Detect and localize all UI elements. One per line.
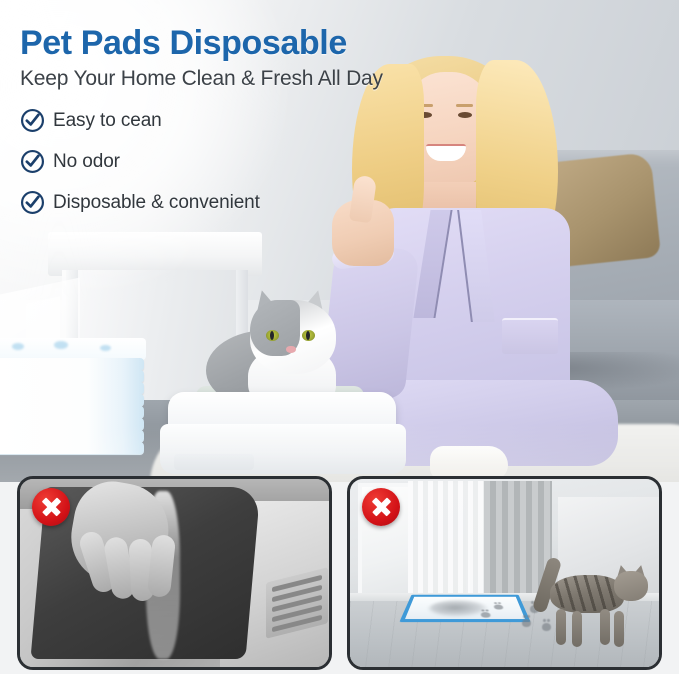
- pajama-pocket: [502, 318, 558, 354]
- cat-leg: [572, 611, 582, 647]
- list-item: Disposable & convenient: [20, 190, 440, 215]
- list-item-label: Disposable & convenient: [53, 192, 260, 214]
- list-item: No odor: [20, 149, 440, 174]
- panel-soiled-pad-on-floor: [347, 476, 662, 670]
- eye-right: [458, 112, 472, 118]
- cat-nose: [286, 346, 296, 353]
- benefit-list: Easy to cean No odor D: [20, 108, 440, 215]
- cat-leg: [600, 609, 610, 645]
- soiled-pee-pad: [399, 595, 530, 622]
- cat-pupil-left: [270, 331, 274, 340]
- paw-print: [522, 619, 531, 627]
- list-item: Easy to cean: [20, 108, 440, 133]
- cat-pupil-right: [306, 331, 310, 340]
- cat-leg: [556, 609, 566, 645]
- eyebrow-right: [456, 104, 473, 107]
- cat-head: [614, 571, 648, 601]
- pad-print-dot: [54, 341, 68, 349]
- pad-print-dot: [100, 345, 111, 351]
- red-x-badge: [362, 488, 400, 526]
- comparison-panels: [0, 474, 679, 674]
- page-title: Pet Pads Disposable: [20, 24, 440, 62]
- stack-of-pet-pads: [0, 352, 150, 458]
- urine-stain: [428, 600, 488, 616]
- headline-block: Pet Pads Disposable Keep Your Home Clean…: [20, 24, 440, 231]
- list-item-label: No odor: [53, 151, 120, 173]
- check-circle-icon: [20, 149, 45, 174]
- pad-print-dot: [12, 343, 24, 350]
- page-subtitle: Keep Your Home Clean & Fresh All Day: [20, 67, 440, 91]
- pad-stack-top-sheet: [0, 338, 146, 360]
- litter-box-lip: [174, 454, 254, 470]
- check-circle-icon: [20, 108, 45, 133]
- cat-stripes: [552, 575, 622, 611]
- check-circle-icon: [20, 190, 45, 215]
- product-infographic: Pet Pads Disposable Keep Your Home Clean…: [0, 0, 679, 674]
- paw-print: [493, 605, 503, 610]
- pad-sheet: [0, 442, 144, 455]
- tabby-cat: [538, 565, 658, 651]
- list-item-label: Easy to cean: [53, 110, 162, 132]
- paw-print: [481, 612, 491, 618]
- panel-washing-litter-box: [17, 476, 332, 670]
- cat-leg: [614, 611, 624, 647]
- red-x-badge: [32, 488, 70, 526]
